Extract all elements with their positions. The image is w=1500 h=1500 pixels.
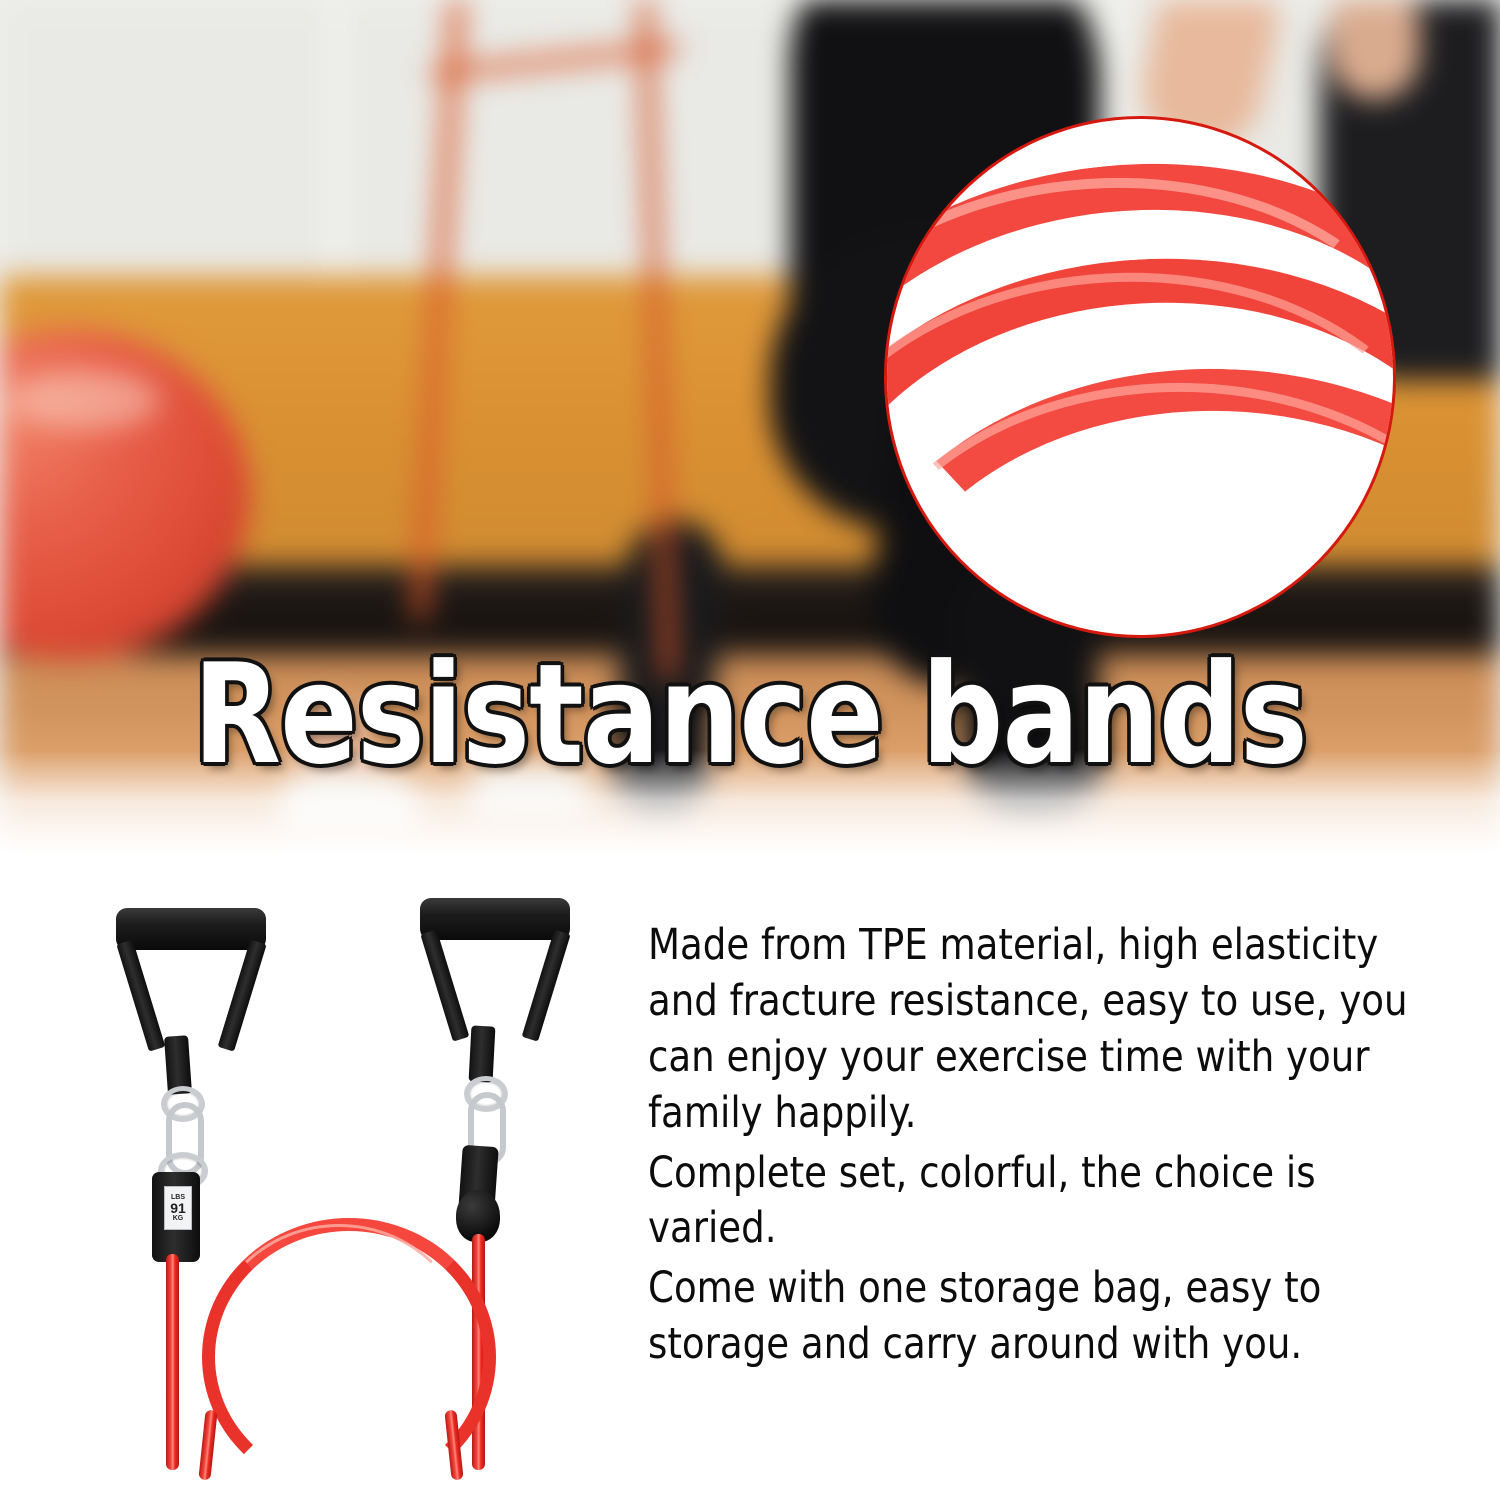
description-paragraph-1: Made from TPE material, high elasticity … [648, 918, 1435, 1142]
hero-banner: Resistance bands [0, 0, 1500, 870]
wall-seam-left [330, 0, 344, 300]
label-unit-kg: KG [173, 1215, 184, 1222]
product-info-panel: LBS 91 KG Made from TPE material, high e… [0, 870, 1500, 1500]
handle-left-foam-grip [116, 908, 266, 950]
resistance-tube-left-riser [166, 1254, 179, 1470]
description-paragraph-3: Come with one storage bag, easy to stora… [648, 1261, 1435, 1373]
handle-left-strap-outer [116, 940, 165, 1052]
mirror-figure-arm [1330, 0, 1420, 100]
tubing-detail-circle-inset [884, 116, 1396, 638]
handle-right-foam-grip [420, 898, 570, 940]
handle-right-strap-inner [522, 930, 571, 1042]
exercise-ball-highlight [10, 370, 160, 430]
page-title: Resistance bands [60, 646, 1440, 784]
product-description: Made from TPE material, high elasticity … [648, 918, 1468, 1377]
product-photo: LBS 91 KG [90, 890, 610, 1470]
resistance-rating-label: LBS 91 KG [164, 1186, 192, 1230]
description-paragraph-2: Complete set, colorful, the choice is va… [648, 1146, 1435, 1258]
handle-left-strap-inner [218, 940, 267, 1052]
handle-right-strap-outer [420, 930, 469, 1042]
handle-right-strap-junction [469, 1025, 496, 1082]
label-value: 91 [170, 1201, 186, 1216]
resistance-tube-left-tail [198, 1410, 217, 1481]
resistance-tube-loop-highlight [208, 1224, 470, 1470]
